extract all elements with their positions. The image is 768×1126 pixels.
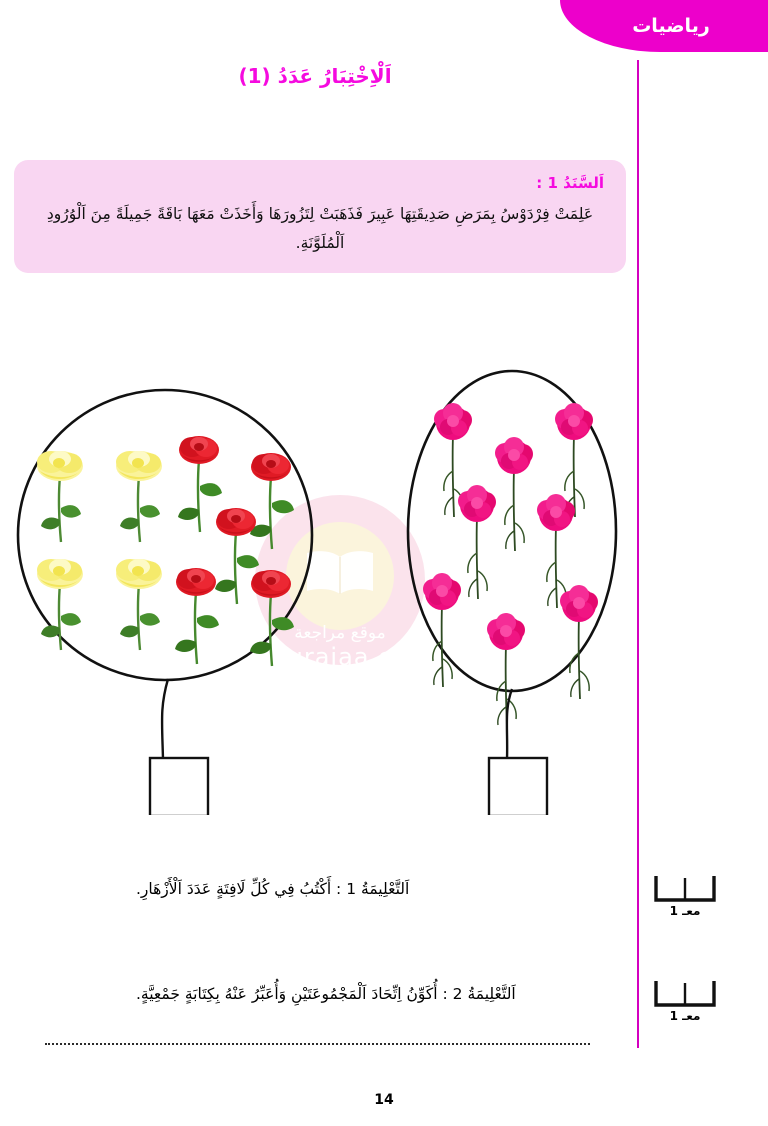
- footer-divider: [45, 1043, 590, 1045]
- page-title: اَلْاِخْتِبَارُ عَدَدُ (1): [0, 64, 630, 88]
- page-number: 14: [0, 1092, 768, 1108]
- instruction-1: اَلتَّعْلِيمَةُ 1 : أَكْتُبُ فِي كُلِّ ل…: [136, 880, 696, 898]
- sets-diagram: [0, 355, 637, 815]
- left-set-outline: [18, 390, 312, 680]
- right-answer-box: [489, 758, 547, 815]
- subject-tab: رياضيات: [560, 0, 768, 52]
- support-label: اَلسَّنَدُ 1 :: [36, 174, 604, 192]
- support-box: اَلسَّنَدُ 1 : عَلِمَتْ فِرْدَوْسُ بِمَر…: [14, 160, 626, 273]
- score-bracket-icon: [650, 874, 720, 904]
- flower-sets-area: [0, 355, 637, 815]
- vertical-divider: [637, 60, 639, 1048]
- score-bracket-icon: [650, 979, 720, 1009]
- right-set-group: [408, 371, 616, 815]
- left-set-group: [18, 390, 312, 815]
- left-answer-box: [150, 758, 208, 815]
- score-label-2: معـ 1: [650, 1009, 720, 1023]
- score-bracket-1: معـ 1: [650, 874, 720, 924]
- instruction-2: اَلتَّعْلِيمَةُ 2 : أُكَوِّنُ اِتِّحَادَ…: [136, 985, 696, 1003]
- score-bracket-2: معـ 1: [650, 979, 720, 1029]
- worksheet-page: رياضيات اَلْاِخْتِبَارُ عَدَدُ (1) اَلسَ…: [0, 0, 768, 1126]
- score-label-1: معـ 1: [650, 904, 720, 918]
- support-text: عَلِمَتْ فِرْدَوْسُ بِمَرَضِ صَدِيقَتِهَ…: [36, 200, 604, 257]
- left-connector-line: [162, 679, 168, 759]
- subject-tab-label: رياضيات: [632, 15, 710, 37]
